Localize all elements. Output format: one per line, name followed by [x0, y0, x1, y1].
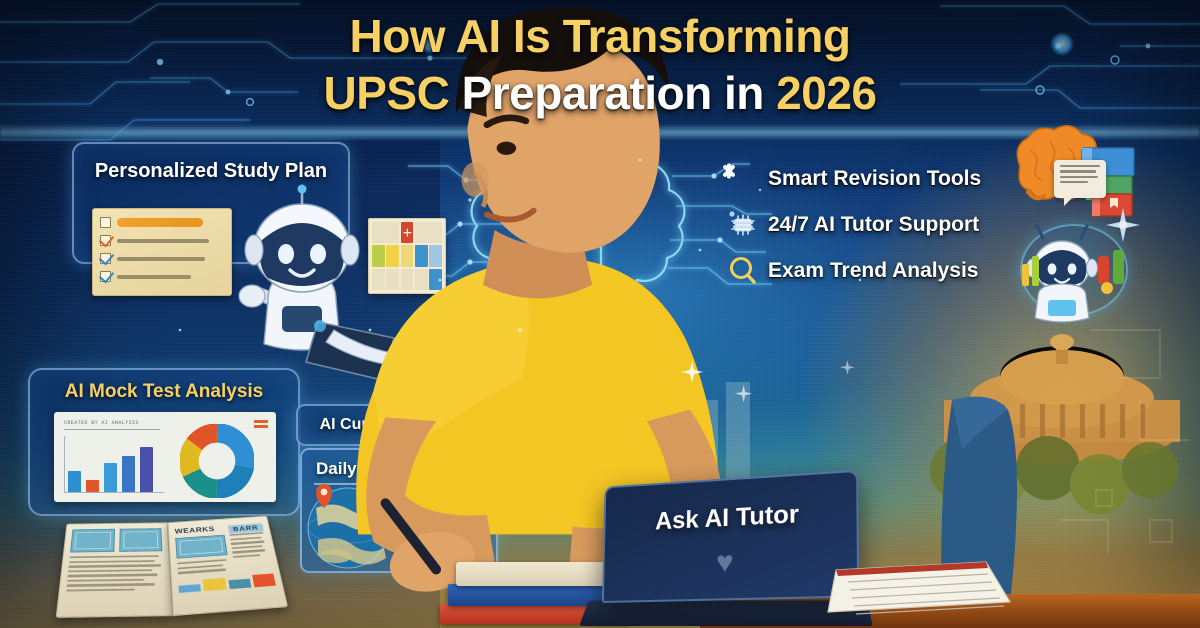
feature-item-exam-trend-analysis[interactable]: Exam Trend Analysis: [726, 250, 1026, 292]
headline-preparation: Preparation in: [462, 67, 777, 119]
headline-upsc: UPSC: [323, 67, 461, 119]
headline-year: 2026: [776, 67, 876, 119]
feature-item-smart-revision-tools[interactable]: Smart Revision Tools: [726, 158, 1026, 200]
star-burst-icon: [726, 162, 760, 196]
feature-label: Smart Revision Tools: [768, 167, 981, 191]
feature-list: Smart Revision Tools: [726, 158, 1026, 296]
feature-label: Exam Trend Analysis: [768, 259, 978, 283]
infographic-canvas: How AI Is Transforming UPSC Preparation …: [0, 0, 1200, 628]
headline-block: How AI Is Transforming UPSC Preparation …: [0, 8, 1200, 122]
magnifier-icon: [726, 254, 760, 288]
headline-line-1: How AI Is Transforming: [0, 8, 1200, 65]
feature-item-ai-tutor-support[interactable]: 24/7 AI Tutor Support: [726, 204, 1026, 246]
sparkle-icon: [1106, 208, 1140, 242]
feature-label: 24/7 AI Tutor Support: [768, 213, 979, 237]
headline-line-2: UPSC Preparation in 2026: [0, 65, 1200, 122]
headline-line-1-text: How AI Is Transforming: [349, 10, 850, 62]
ai-chip-icon: [726, 208, 760, 242]
